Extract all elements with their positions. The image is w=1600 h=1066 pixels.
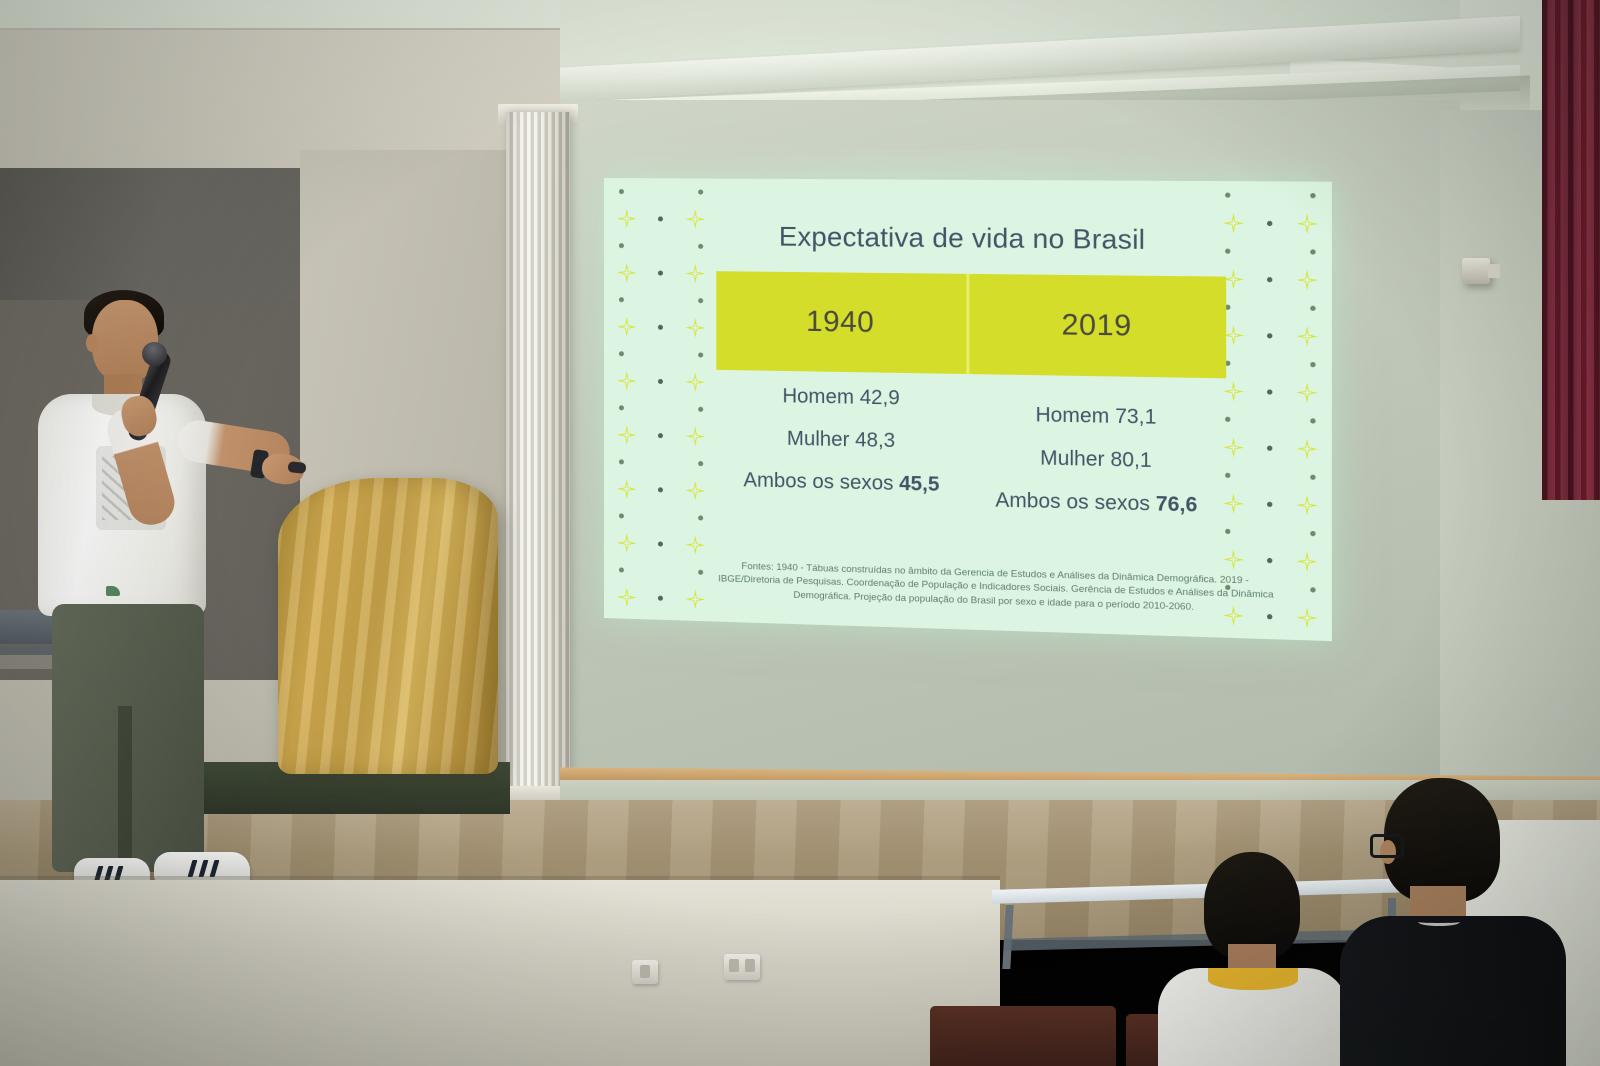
dot-icon (1268, 558, 1273, 563)
sparkle-icon (685, 589, 705, 610)
dot-icon (1268, 446, 1273, 451)
sparkle-row (606, 421, 716, 450)
dot-row (606, 448, 716, 478)
column-1940-values: Homem 42,9 Mulher 48,3 Ambos os sexos 45… (716, 384, 967, 531)
dot-row (1211, 181, 1330, 210)
red-stage-curtain (1542, 0, 1600, 500)
presenter-ear (86, 334, 98, 352)
dot-icon (619, 351, 624, 356)
dot-row (1211, 405, 1330, 435)
label-mulher: Mulher (1040, 447, 1104, 471)
row-mulher-2019: Mulher 80,1 (967, 446, 1226, 475)
sparkle-row (606, 475, 716, 505)
dot-icon (1310, 362, 1315, 367)
necklace (1418, 918, 1460, 926)
student-yellow-collar (1208, 968, 1298, 990)
row-homem-1940: Homem 42,9 (716, 384, 967, 412)
sparkle-row (1211, 377, 1330, 407)
dot-icon (1310, 587, 1315, 592)
dot-icon (658, 379, 663, 384)
sparkle-row (606, 583, 716, 613)
dot-icon (698, 515, 703, 520)
sparkle-icon (617, 479, 637, 500)
dot-icon (1310, 193, 1315, 198)
sparkle-row (1211, 265, 1330, 294)
dot-row (606, 556, 716, 586)
chair-left (930, 1006, 1116, 1066)
sparkle-icon (617, 425, 637, 445)
dot-icon (619, 459, 624, 464)
row-mulher-1940: Mulher 48,3 (716, 426, 967, 455)
column-header-2019: 2019 (969, 274, 1226, 378)
value-ambos: 45,5 (899, 473, 939, 496)
dot-icon (658, 541, 663, 546)
dot-row (1211, 517, 1330, 548)
dot-icon (1225, 529, 1230, 534)
dot-row (606, 394, 716, 423)
dot-icon (1225, 361, 1230, 366)
wall-speaker (1462, 258, 1490, 284)
projected-slide: Expectativa de vida no Brasil 1940 2019 … (604, 178, 1332, 641)
dot-row (1211, 461, 1330, 492)
dot-row (1211, 293, 1330, 323)
label-mulher: Mulher (787, 428, 849, 452)
dot-icon (698, 352, 703, 357)
dot-icon (698, 190, 703, 195)
sparkle-icon (617, 587, 637, 608)
slide-sources-note: Fontes: 1940 - Tábuas construídas no âmb… (716, 559, 1275, 617)
stage-apron-wall (0, 880, 1000, 1066)
dot-icon (1268, 277, 1273, 282)
sparkle-icon (1296, 270, 1318, 291)
sparkle-icon (1296, 382, 1318, 403)
dot-icon (1225, 193, 1230, 198)
dot-icon (1310, 306, 1315, 311)
row-ambos-1940: Ambos os sexos 45,5 (716, 469, 967, 498)
dot-icon (698, 570, 703, 575)
dot-icon (1310, 475, 1315, 480)
sparkle-icon (1296, 607, 1318, 629)
dot-icon (698, 407, 703, 412)
column-header-1940: 1940 (716, 271, 969, 374)
dot-icon (1268, 502, 1273, 507)
dot-icon (1310, 418, 1315, 423)
value-homem: 42,9 (860, 386, 900, 409)
sparkle-icon (1296, 495, 1318, 516)
dot-icon (658, 433, 663, 438)
dot-icon (619, 189, 624, 194)
sparkle-icon (617, 263, 637, 283)
fluted-column (506, 112, 570, 812)
label-homem: Homem (782, 385, 854, 409)
value-mulher: 80,1 (1110, 449, 1151, 473)
dot-icon (1225, 473, 1230, 478)
dot-icon (1225, 417, 1230, 422)
sparkle-icon (1223, 549, 1244, 570)
dot-icon (698, 298, 703, 303)
sparkle-row (1211, 321, 1330, 351)
student-white-shirt (1152, 826, 1352, 1066)
dot-icon (658, 596, 663, 601)
wall-outlet-single (632, 960, 658, 984)
dot-icon (619, 405, 624, 410)
gold-draped-object (278, 478, 498, 774)
sparkle-row (1211, 489, 1330, 520)
sparkle-icon (685, 480, 705, 501)
label-homem: Homem (1036, 404, 1110, 428)
eyeglasses (1370, 834, 1404, 858)
table-header-band: 1940 2019 (716, 271, 1226, 378)
value-mulher: 48,3 (855, 429, 895, 452)
sparkle-row (606, 529, 716, 559)
sparkle-icon (617, 371, 637, 391)
wall-outlet-double (724, 954, 760, 980)
dot-icon (1268, 389, 1273, 394)
sparkle-icon (685, 318, 705, 338)
lecture-hall-photo: Expectativa de vida no Brasil 1940 2019 … (0, 0, 1600, 1066)
sparkle-icon (685, 263, 705, 283)
sparkle-row (1211, 545, 1330, 576)
label-ambos: Ambos os sexos (995, 489, 1150, 515)
dot-icon (658, 271, 663, 276)
presenter-leg-separation (118, 706, 132, 874)
dot-icon (658, 325, 663, 330)
dot-row (606, 502, 716, 532)
dot-icon (1268, 333, 1273, 338)
sparkle-icon (617, 317, 637, 337)
sparkle-row (606, 367, 716, 396)
sparkle-row (606, 313, 716, 342)
label-ambos: Ambos os sexos (743, 469, 893, 495)
dot-icon (1225, 305, 1230, 310)
sparkle-row (1211, 433, 1330, 464)
dot-row (606, 340, 716, 369)
dot-row (606, 286, 716, 314)
value-ambos: 76,6 (1156, 493, 1198, 517)
value-homem: 73,1 (1115, 405, 1156, 428)
dot-icon (619, 567, 624, 572)
student-black-shirt (1340, 778, 1570, 1066)
dot-row (1211, 349, 1330, 379)
slide-table: 1940 2019 Homem 42,9 Mulher 48,3 (716, 271, 1226, 538)
sparkle-row (606, 259, 716, 287)
dot-icon (619, 297, 624, 302)
column-2019-values: Homem 73,1 Mulher 80,1 Ambos os sexos 76… (967, 388, 1226, 538)
dot-icon (658, 487, 663, 492)
row-homem-2019: Homem 73,1 (967, 403, 1226, 432)
sparkle-icon (685, 535, 705, 556)
dot-icon (619, 513, 624, 518)
sparkle-icon (685, 426, 705, 447)
presentation-clicker (287, 461, 306, 474)
dot-row (606, 178, 716, 206)
presenter (0, 286, 310, 886)
sparkle-icon (1296, 551, 1318, 572)
row-ambos-2019: Ambos os sexos 76,6 (967, 488, 1226, 518)
sparkle-icon (617, 533, 637, 554)
sparkle-icon (1296, 438, 1318, 459)
sparkle-icon (685, 372, 705, 392)
dot-icon (1310, 531, 1315, 536)
student-torso (1340, 916, 1566, 1066)
sparkle-icon (1296, 326, 1318, 347)
dot-icon (698, 461, 703, 466)
